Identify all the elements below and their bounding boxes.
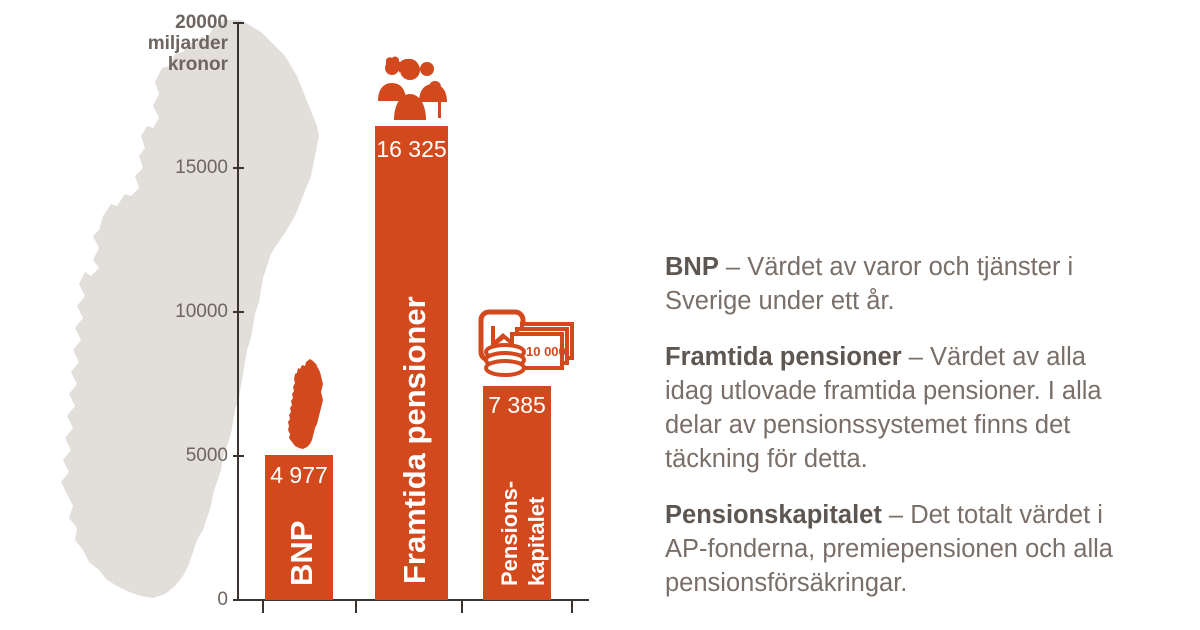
bar-pensionskapitalet-value: 7 385 [483,392,551,419]
x-tick-1 [355,601,357,613]
legend-paragraph-framtida: Framtida pensioner – Värdet av alla idag… [665,340,1135,476]
legend-paragraph-bnp: BNP – Värdet av varor och tjänster i Sve… [665,250,1135,318]
y-axis-label-10000: 10000 [128,301,228,322]
x-tick-2 [461,601,463,613]
x-tick-end [571,601,573,613]
y-axis-label-0: 0 [188,589,228,611]
legend-dash-kapital: – [882,501,910,529]
bar-pensionskapitalet-label-line1: Pensions- [497,481,523,586]
y-axis-unit-line-2: kronor [88,54,228,75]
y-axis-label-5000: 5000 [128,445,228,466]
y-axis-label-15000: 15000 [128,157,228,178]
y-tick-20000 [233,22,244,24]
money-chart-icon: 10 000 [478,308,578,387]
bar-bnp-value: 4 977 [265,462,333,489]
y-tick-10000 [233,311,244,313]
legend-dash-bnp: – [719,253,747,281]
y-axis-max-label: 20000 [88,12,228,33]
y-tick-15000 [233,167,244,169]
infographic-root: 20000 miljarder kronor 15000 10000 5000 … [0,0,1200,630]
bar-bnp-label: BNP [284,521,320,586]
bar-framtida-pensioner-value: 16 325 [375,136,448,163]
sweden-map-icon [286,358,326,450]
y-axis-unit-line-1: miljarder [88,33,228,54]
legend-dash-framtida: – [902,343,930,371]
legend-text-panel: BNP – Värdet av varor och tjänster i Sve… [665,250,1135,600]
y-tick-0 [233,599,244,601]
bar-pensionskapitalet-label-line2: kapitalet [524,497,550,586]
banknote-value-text: 10 000 [526,344,566,359]
legend-term-bnp: BNP [665,253,719,281]
x-tick-start [262,601,264,613]
people-group-icon [374,56,447,125]
plot-area: 20000 miljarder kronor 15000 10000 5000 … [0,0,640,630]
legend-paragraph-kapital: Pensionskapitalet – Det totalt värdet i … [665,498,1135,600]
bar-framtida-pensioner-label: Framtida pensioner [397,296,433,584]
y-tick-5000 [233,455,244,457]
chart-panel: 20000 miljarder kronor 15000 10000 5000 … [0,0,640,630]
legend-term-framtida: Framtida pensioner [665,343,902,371]
legend-term-kapital: Pensionskapitalet [665,501,882,529]
